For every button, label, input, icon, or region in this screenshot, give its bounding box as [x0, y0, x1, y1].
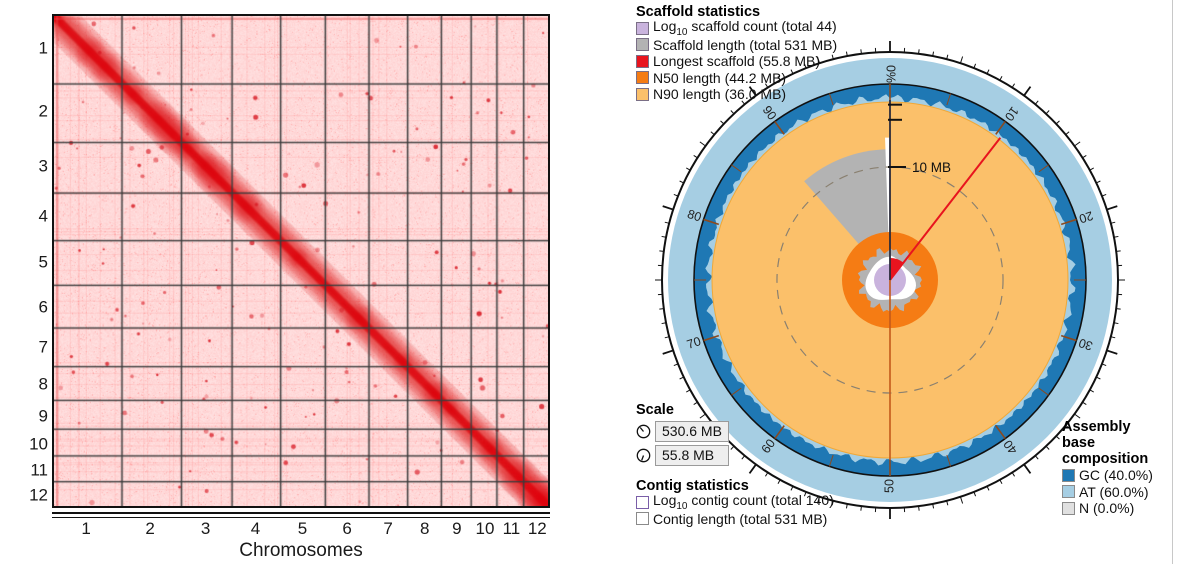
percent-tick-59	[765, 473, 767, 477]
base-composition-title-line2: base composition	[1062, 435, 1181, 467]
percent-tick-80	[663, 206, 673, 209]
hic-y-tick-9: 9	[39, 407, 48, 424]
radial-axis-label: 10 MB	[912, 160, 951, 175]
hic-x-tick-2: 2	[145, 519, 154, 539]
hic-y-tick-2: 2	[39, 103, 48, 120]
contig-legend-0-swatch	[636, 496, 649, 509]
contig-legend-1-row: Contig length (total 531 MB)	[636, 511, 834, 528]
hic-y-tick-8: 8	[39, 375, 48, 392]
percent-tick-16	[1083, 155, 1087, 157]
percent-tick-38	[1046, 446, 1049, 449]
percent-tick-98	[861, 49, 862, 53]
percent-tick-9	[1012, 84, 1014, 88]
scale-rows: 530.6 MB 55.8 MB	[636, 421, 729, 466]
scale-row-1: 55.8 MB	[636, 445, 729, 466]
scaffold-legend-2-swatch	[636, 55, 649, 68]
hic-x-tick-3: 3	[201, 519, 210, 539]
scaffold-legend-4-row: N90 length (36.0 MB)	[636, 86, 837, 103]
percent-tick-13	[1056, 121, 1059, 124]
scaffold-legend-1-row: Scaffold length (total 531 MB)	[636, 37, 837, 54]
percent-tick-48	[919, 506, 920, 510]
origin-percent-label: 0%	[884, 65, 898, 83]
scaffold-legend-0-swatch	[636, 22, 649, 35]
percent-tick-73	[659, 309, 663, 310]
hic-y-tick-4: 4	[39, 207, 48, 224]
percent-tick-85	[700, 142, 706, 146]
percent-tick-17	[1090, 168, 1094, 170]
percent-tick-35	[1074, 414, 1080, 418]
percent-tick-39	[1035, 456, 1038, 459]
scale-row-0: 530.6 MB	[636, 421, 729, 442]
percent-tick-83	[686, 168, 690, 170]
scaffold-legend-0-row: Log10 scaffold count (total 44)	[636, 20, 837, 37]
percent-tick-40	[1024, 464, 1030, 473]
hic-x-axis-label: Chromosomes	[52, 540, 550, 562]
base-composition-2-swatch	[1062, 502, 1075, 515]
percent-tick-41	[1012, 473, 1014, 477]
hic-y-tick-1: 1	[39, 39, 48, 56]
hic-x-tick-8: 8	[420, 519, 429, 539]
percent-tick-8	[1000, 76, 1002, 80]
percent-tick-77	[659, 251, 663, 252]
contig-legend-1-swatch	[636, 512, 649, 525]
percent-tick-61	[742, 456, 745, 459]
clock-full-icon	[636, 424, 651, 439]
hic-x-tick-5: 5	[298, 519, 307, 539]
panel-divider	[1172, 0, 1173, 564]
hic-x-tick-4: 4	[251, 519, 260, 539]
base-composition-items: GC (40.0%)AT (60.0%)N (0.0%)	[1062, 467, 1181, 517]
hic-y-tick-6: 6	[39, 298, 48, 315]
scaffold-legend-2-row: Longest scaffold (55.8 MB)	[636, 53, 837, 70]
percent-tick-14	[1066, 132, 1069, 135]
percent-tick-27	[1116, 309, 1120, 310]
percent-tick-30	[1107, 350, 1117, 353]
percent-tick-86	[711, 132, 714, 135]
base-composition-1-swatch	[1062, 485, 1075, 498]
scale-value-0[interactable]: 530.6 MB	[655, 421, 729, 442]
scaffold-statistics-legend: Scaffold statistics Log10 scaffold count…	[636, 4, 837, 103]
base-composition-0-label: GC (40.0%)	[1079, 467, 1153, 483]
percent-tick-67	[686, 390, 690, 392]
percent-tick-70	[663, 350, 673, 353]
scaffold-legend-3-label: N50 length (44.2 MB)	[653, 70, 786, 86]
hic-x-tick-6: 6	[342, 519, 351, 539]
hic-x-tick-11: 11	[503, 519, 521, 539]
base-composition-0-swatch	[1062, 469, 1075, 482]
percent-tick-45	[960, 497, 962, 504]
hic-x-tick-10: 10	[476, 519, 495, 539]
percent-tick-42	[1000, 480, 1002, 484]
hic-y-tick-3: 3	[39, 158, 48, 175]
percent-tick-12	[1046, 111, 1049, 114]
hic-x-axis-line	[52, 512, 550, 518]
scaffold-legend-3-swatch	[636, 71, 649, 84]
base-composition-1-row: AT (60.0%)	[1062, 484, 1181, 501]
scaffold-legend-0-label: Log10 scaffold count (total 44)	[653, 18, 837, 38]
scale-title: Scale	[636, 402, 729, 418]
percent-tick-84	[694, 155, 698, 157]
hic-y-tick-7: 7	[39, 339, 48, 356]
clock-partial-icon	[636, 448, 651, 463]
contig-legend-1-label: Contig length (total 531 MB)	[653, 511, 827, 527]
base-composition-1-label: AT (60.0%)	[1079, 484, 1149, 500]
hic-x-tick-1: 1	[81, 519, 90, 539]
hic-x-tick-12: 12	[528, 519, 547, 539]
hic-x-tick-7: 7	[383, 519, 392, 539]
scale-value-1[interactable]: 55.8 MB	[655, 445, 729, 466]
base-composition-title-line1: Assembly	[1062, 419, 1181, 435]
percent-tick-label-50: 50	[882, 479, 896, 493]
percent-tick-52	[861, 506, 862, 510]
scaffold-legend-2-label: Longest scaffold (55.8 MB)	[653, 53, 820, 69]
hic-y-tick-11: 11	[30, 461, 48, 478]
scaffold-legend-3-row: N50 length (44.2 MB)	[636, 70, 837, 87]
hic-y-tick-12: 12	[29, 487, 48, 504]
percent-tick-23	[1116, 251, 1120, 252]
percent-tick-34	[1083, 402, 1087, 404]
hic-heatmap-canvas	[54, 16, 548, 506]
percent-tick-15	[1074, 142, 1080, 146]
base-composition-legend: Assembly base composition GC (40.0%)AT (…	[1062, 419, 1181, 517]
contig-statistics-legend: Contig statistics Log10 contig count (to…	[636, 478, 834, 527]
base-composition-0-row: GC (40.0%)	[1062, 467, 1181, 484]
percent-tick-2	[919, 49, 920, 53]
hic-x-tick-9: 9	[452, 519, 461, 539]
base-composition-2-row: N (0.0%)	[1062, 500, 1181, 517]
percent-tick-62	[731, 446, 734, 449]
percent-tick-37	[1056, 436, 1059, 439]
scaffold-legend-1-label: Scaffold length (total 531 MB)	[653, 37, 837, 53]
scaffold-legend-4-label: N90 length (36.0 MB)	[653, 86, 786, 102]
percent-tick-87	[721, 121, 724, 124]
hic-y-tick-10: 10	[29, 435, 48, 452]
percent-tick-88	[731, 111, 734, 114]
scale-legend: Scale 530.6 MB 55.8 MB	[636, 402, 729, 466]
hic-contact-map-panel: Chromosomes 123456789101112 123456789101…	[0, 0, 600, 564]
hic-y-tick-5: 5	[39, 254, 48, 271]
percent-tick-11	[1035, 101, 1038, 104]
contig-legend-0-label: Log10 contig count (total 140)	[653, 492, 834, 512]
base-composition-2-label: N (0.0%)	[1079, 500, 1134, 516]
contig-legend-0-row: Log10 contig count (total 140)	[636, 494, 834, 511]
hic-heatmap-plot	[52, 14, 550, 508]
percent-tick-60	[750, 464, 756, 473]
percent-tick-20	[1107, 206, 1117, 209]
scaffold-legend-items: Log10 scaffold count (total 44)Scaffold …	[636, 20, 837, 103]
percent-tick-33	[1090, 390, 1094, 392]
scaffold-legend-4-swatch	[636, 88, 649, 101]
percent-tick-5	[960, 57, 962, 64]
scaffold-legend-1-swatch	[636, 38, 649, 51]
percent-tick-10	[1024, 87, 1030, 96]
contig-legend-items: Log10 contig count (total 140)Contig len…	[636, 494, 834, 527]
hic-y-tick-labels: 123456789101112	[12, 14, 48, 508]
